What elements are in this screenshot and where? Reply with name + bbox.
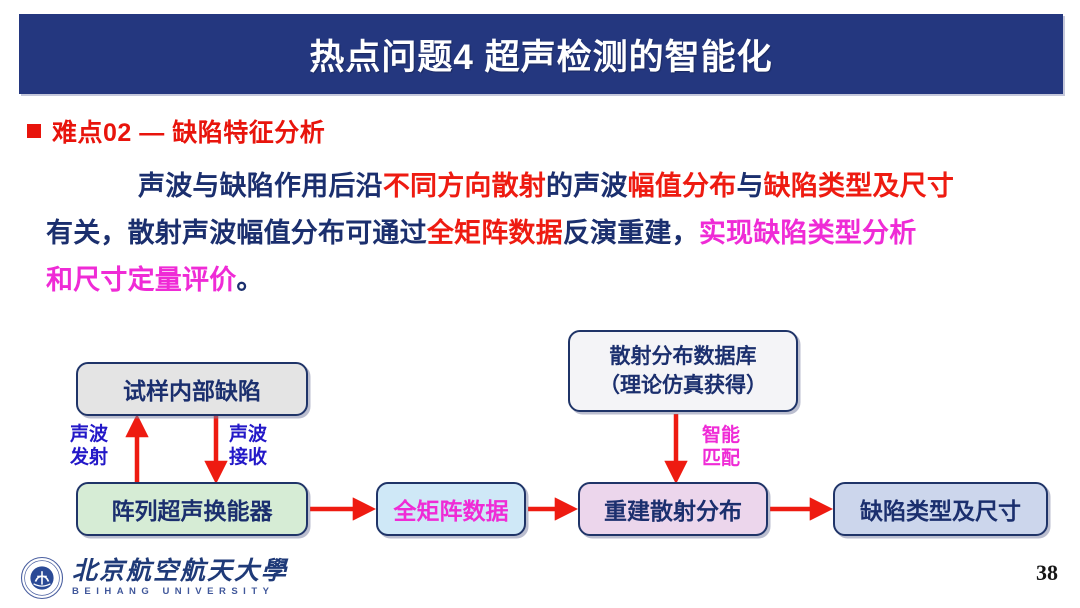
arrow-label-receive-line2: 接收 [229, 446, 267, 469]
body-paragraph: 声波与缺陷作用后沿不同方向散射的声波幅值分布与缺陷类型及尺寸 有关，散射声波幅值… [46, 163, 1046, 304]
body-span: 与 [736, 171, 763, 201]
square-bullet-icon [27, 124, 41, 138]
diagram-node-label-line2: （理论仿真获得） [599, 371, 767, 400]
section-heading: 难点02 — 缺陷特征分析 [27, 113, 325, 149]
university-name-cn: 北京航空航天大學 [72, 558, 288, 585]
arrow-label-match-line1: 智能 [702, 424, 740, 447]
diagram-node-array-transducer[interactable]: 阵列超声换能器 [76, 482, 308, 536]
diagram-node-label: 缺陷类型及尺寸 [860, 492, 1021, 526]
body-span: 声波与缺陷作用后沿 [138, 171, 383, 201]
diagram-node-label: 全矩阵数据 [394, 492, 509, 526]
body-span: 反演重建， [563, 218, 699, 248]
page-number: 38 [1036, 560, 1058, 586]
arrow-label-intelligent-match: 智能 匹配 [702, 424, 740, 470]
diagram-node-label: 阵列超声换能器 [112, 492, 273, 526]
diagram-node-label: 试样内部缺陷 [123, 372, 261, 406]
diagram-node-reconstructed-scattering[interactable]: 重建散射分布 [578, 482, 768, 536]
diagram-node-scattering-database[interactable]: 散射分布数据库 （理论仿真获得） [568, 330, 798, 412]
body-line-2: 有关，散射声波幅值分布可通过全矩阵数据反演重建，实现缺陷类型分析 [46, 210, 1046, 257]
body-span-highlight: 不同方向散射 [383, 171, 546, 201]
university-name-block: 北京航空航天大學 BEIHANG UNIVERSITY [72, 558, 288, 598]
arrow-label-receive-line1: 声波 [229, 423, 267, 446]
body-span-highlight: 幅值分布 [628, 171, 737, 201]
university-logo: 北京航空航天大學 BEIHANG UNIVERSITY [20, 556, 288, 600]
body-span-highlight: 全矩阵数据 [427, 218, 563, 248]
arrow-label-match-line2: 匹配 [702, 447, 740, 470]
body-span-highlight: 缺陷类型及尺寸 [764, 171, 954, 201]
body-span: 的声波 [546, 171, 628, 201]
diagram-node-internal-defect[interactable]: 试样内部缺陷 [76, 362, 308, 416]
diagram-node-label: 重建散射分布 [604, 492, 742, 526]
body-span-emphasis: 实现缺陷类型分析 [699, 218, 917, 248]
body-span-emphasis: 和尺寸定量评价 [46, 265, 236, 295]
university-name-en: BEIHANG UNIVERSITY [72, 585, 288, 598]
body-span: 有关，散射声波幅值分布可通过 [46, 218, 427, 248]
arrow-label-receive: 声波 接收 [229, 423, 267, 469]
body-span: 。 [236, 265, 263, 295]
diagram-node-label-line1: 散射分布数据库 [610, 342, 757, 371]
section-heading-label: 难点02 — 缺陷特征分析 [52, 113, 325, 149]
diagram-node-full-matrix-capture[interactable]: 全矩阵数据 [376, 482, 526, 536]
body-line-1: 声波与缺陷作用后沿不同方向散射的声波幅值分布与缺陷类型及尺寸 [46, 163, 1046, 210]
body-line-3: 和尺寸定量评价。 [46, 257, 1046, 304]
diagram-node-defect-type-and-size[interactable]: 缺陷类型及尺寸 [833, 482, 1048, 536]
beihang-seal-icon [20, 556, 64, 600]
arrow-label-emit-line2: 发射 [70, 446, 108, 469]
page-title: 热点问题4 超声检测的智能化 [309, 29, 772, 80]
title-banner: 热点问题4 超声检测的智能化 [19, 14, 1063, 94]
arrow-label-emit-line1: 声波 [70, 423, 108, 446]
arrow-label-emit: 声波 发射 [70, 423, 108, 469]
